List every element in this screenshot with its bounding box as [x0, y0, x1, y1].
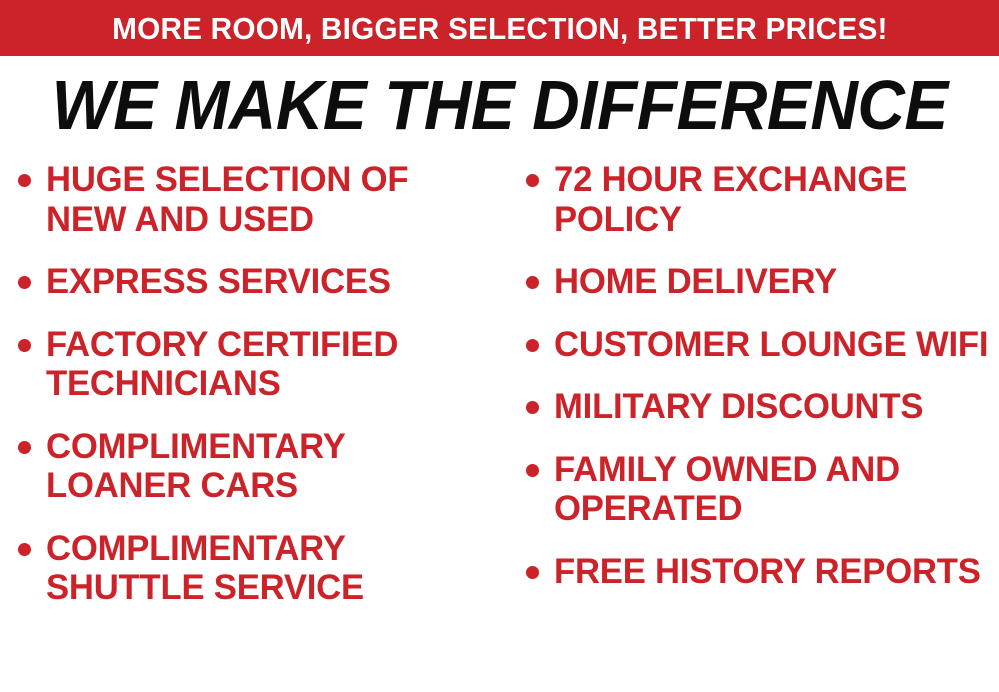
- list-item: EXPRESS SERVICES: [18, 262, 501, 302]
- list-item-label: FREE HISTORY REPORTS: [554, 552, 981, 592]
- bullet-dot-icon: [526, 174, 539, 187]
- list-item: COMPLIMENTARY LOANER CARS: [18, 427, 501, 506]
- bullet-dot-icon: [526, 566, 539, 579]
- bullet-dot-icon: [18, 276, 31, 289]
- list-item: FAMILY OWNED AND OPERATED: [526, 450, 999, 529]
- list-item-label: FAMILY OWNED AND OPERATED: [554, 450, 995, 529]
- bullet-dot-icon: [526, 339, 539, 352]
- bullet-dot-icon: [526, 464, 539, 477]
- bullet-dot-icon: [18, 543, 31, 556]
- benefits-column-left: HUGE SELECTION OF NEW AND USED EXPRESS S…: [0, 160, 505, 631]
- bullet-dot-icon: [526, 276, 539, 289]
- list-item: FACTORY CERTIFIED TECHNICIANS: [18, 325, 501, 404]
- benefits-column-right: 72 HOUR EXCHANGE POLICY HOME DELIVERY CU…: [505, 160, 999, 614]
- list-item: HUGE SELECTION OF NEW AND USED: [18, 160, 501, 239]
- list-item-label: HOME DELIVERY: [554, 262, 837, 302]
- benefits-columns: HUGE SELECTION OF NEW AND USED EXPRESS S…: [0, 160, 999, 692]
- page-title-text: WE MAKE THE DIFFERENCE: [51, 70, 947, 141]
- list-item-label: COMPLIMENTARY LOANER CARS: [46, 427, 496, 506]
- list-item-label: 72 HOUR EXCHANGE POLICY: [554, 160, 995, 239]
- list-item: COMPLIMENTARY SHUTTLE SERVICE: [18, 529, 501, 608]
- bullet-dot-icon: [18, 174, 31, 187]
- list-item-label: FACTORY CERTIFIED TECHNICIANS: [46, 325, 496, 404]
- list-item-label: COMPLIMENTARY SHUTTLE SERVICE: [46, 529, 496, 608]
- list-item: FREE HISTORY REPORTS: [526, 552, 999, 592]
- list-item-label: MILITARY DISCOUNTS: [554, 387, 923, 427]
- list-item-label: HUGE SELECTION OF NEW AND USED: [46, 160, 496, 239]
- list-item: HOME DELIVERY: [526, 262, 999, 302]
- bullet-dot-icon: [526, 401, 539, 414]
- bullet-dot-icon: [18, 339, 31, 352]
- page-title: WE MAKE THE DIFFERENCE: [0, 70, 999, 141]
- dealership-promo-poster: MORE ROOM, BIGGER SELECTION, BETTER PRIC…: [0, 0, 999, 692]
- bullet-dot-icon: [18, 441, 31, 454]
- list-item-label: CUSTOMER LOUNGE WIFI: [554, 325, 988, 365]
- list-item-label: EXPRESS SERVICES: [46, 262, 391, 302]
- list-item: CUSTOMER LOUNGE WIFI: [526, 325, 999, 365]
- list-item: 72 HOUR EXCHANGE POLICY: [526, 160, 999, 239]
- banner-headline-text: MORE ROOM, BIGGER SELECTION, BETTER PRIC…: [112, 13, 887, 44]
- list-item: MILITARY DISCOUNTS: [526, 387, 999, 427]
- top-banner: MORE ROOM, BIGGER SELECTION, BETTER PRIC…: [0, 0, 999, 56]
